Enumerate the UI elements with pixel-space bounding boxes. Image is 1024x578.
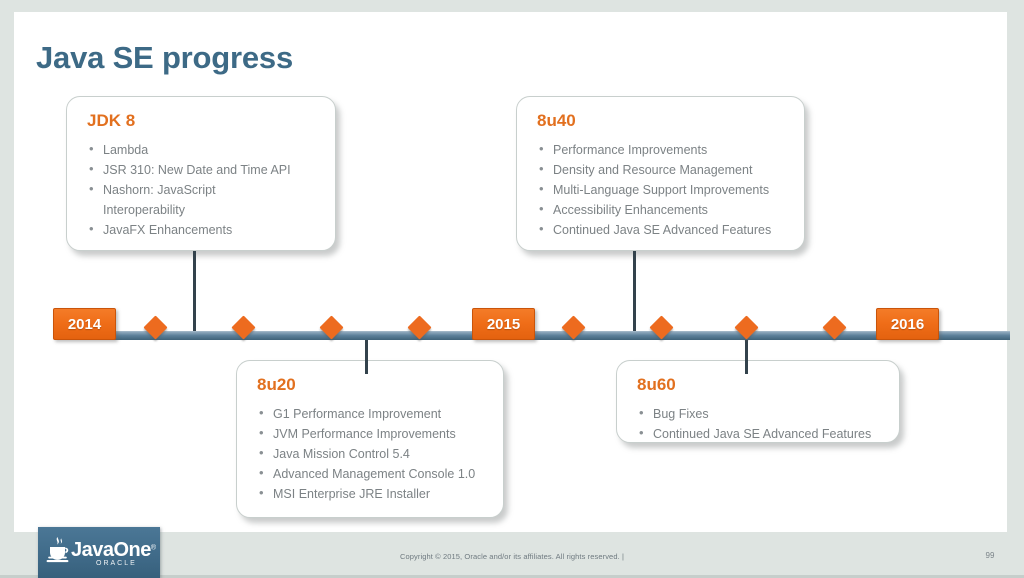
list-item: Java Mission Control 5.4 [259, 444, 487, 464]
list-item: Performance Improvements [539, 140, 788, 160]
timeline-bar [62, 331, 1010, 340]
list-item: JSR 310: New Date and Time API [89, 160, 319, 180]
list-item: Accessibility Enhancements [539, 200, 788, 220]
list-item: Nashorn: JavaScript Interoperability [89, 180, 253, 220]
card-8u60: 8u60 Bug Fixes Continued Java SE Advance… [616, 360, 900, 443]
slide-canvas: Java SE progress JDK 8 Lambda JSR 310: N… [14, 12, 1007, 532]
card-8u20: 8u20 G1 Performance Improvement JVM Perf… [236, 360, 504, 518]
list-item: Multi-Language Support Improvements [539, 180, 788, 200]
list-item: Advanced Management Console 1.0 [259, 464, 487, 484]
list-item: MSI Enterprise JRE Installer [259, 484, 487, 504]
list-item: Bug Fixes [639, 404, 883, 424]
list-item: JVM Performance Improvements [259, 424, 487, 444]
java-cup-icon [45, 535, 71, 565]
connector-8u20 [365, 338, 368, 374]
year-box-2014[interactable]: 2014 [53, 308, 116, 340]
list-item: Density and Resource Management [539, 160, 788, 180]
list-item: G1 Performance Improvement [259, 404, 487, 424]
connector-8u60 [745, 338, 748, 374]
card-8u40: 8u40 Performance Improvements Density an… [516, 96, 805, 251]
logo-trademark-icon: ® [151, 544, 156, 551]
card-list-8u20: G1 Performance Improvement JVM Performan… [237, 404, 503, 516]
logo-wordmark: JavaOne® [71, 540, 156, 561]
year-box-2015[interactable]: 2015 [472, 308, 535, 340]
logo-word: JavaOne [71, 539, 151, 561]
card-list-8u60: Bug Fixes Continued Java SE Advanced Fea… [617, 404, 899, 456]
slide-root: Java SE progress JDK 8 Lambda JSR 310: N… [0, 0, 1024, 578]
card-title-8u40: 8u40 [537, 111, 804, 131]
list-item: JavaFX Enhancements [89, 220, 319, 240]
card-list-jdk8: Lambda JSR 310: New Date and Time API Na… [67, 140, 335, 252]
page-title: Java SE progress [36, 40, 293, 76]
connector-jdk8 [193, 251, 196, 331]
list-item: Continued Java SE Advanced Features [639, 424, 883, 444]
logo-subtitle: ORACLE [96, 560, 137, 567]
year-box-2016[interactable]: 2016 [876, 308, 939, 340]
javaone-logo: JavaOne® ORACLE [38, 527, 160, 578]
card-title-8u20: 8u20 [257, 375, 503, 395]
connector-8u40 [633, 251, 636, 331]
card-list-8u40: Performance Improvements Density and Res… [517, 140, 804, 252]
card-jdk8: JDK 8 Lambda JSR 310: New Date and Time … [66, 96, 336, 251]
card-title-jdk8: JDK 8 [87, 111, 335, 131]
list-item: Lambda [89, 140, 319, 160]
card-title-8u60: 8u60 [637, 375, 899, 395]
page-number: 99 [975, 551, 1005, 560]
list-item: Continued Java SE Advanced Features [539, 220, 788, 240]
